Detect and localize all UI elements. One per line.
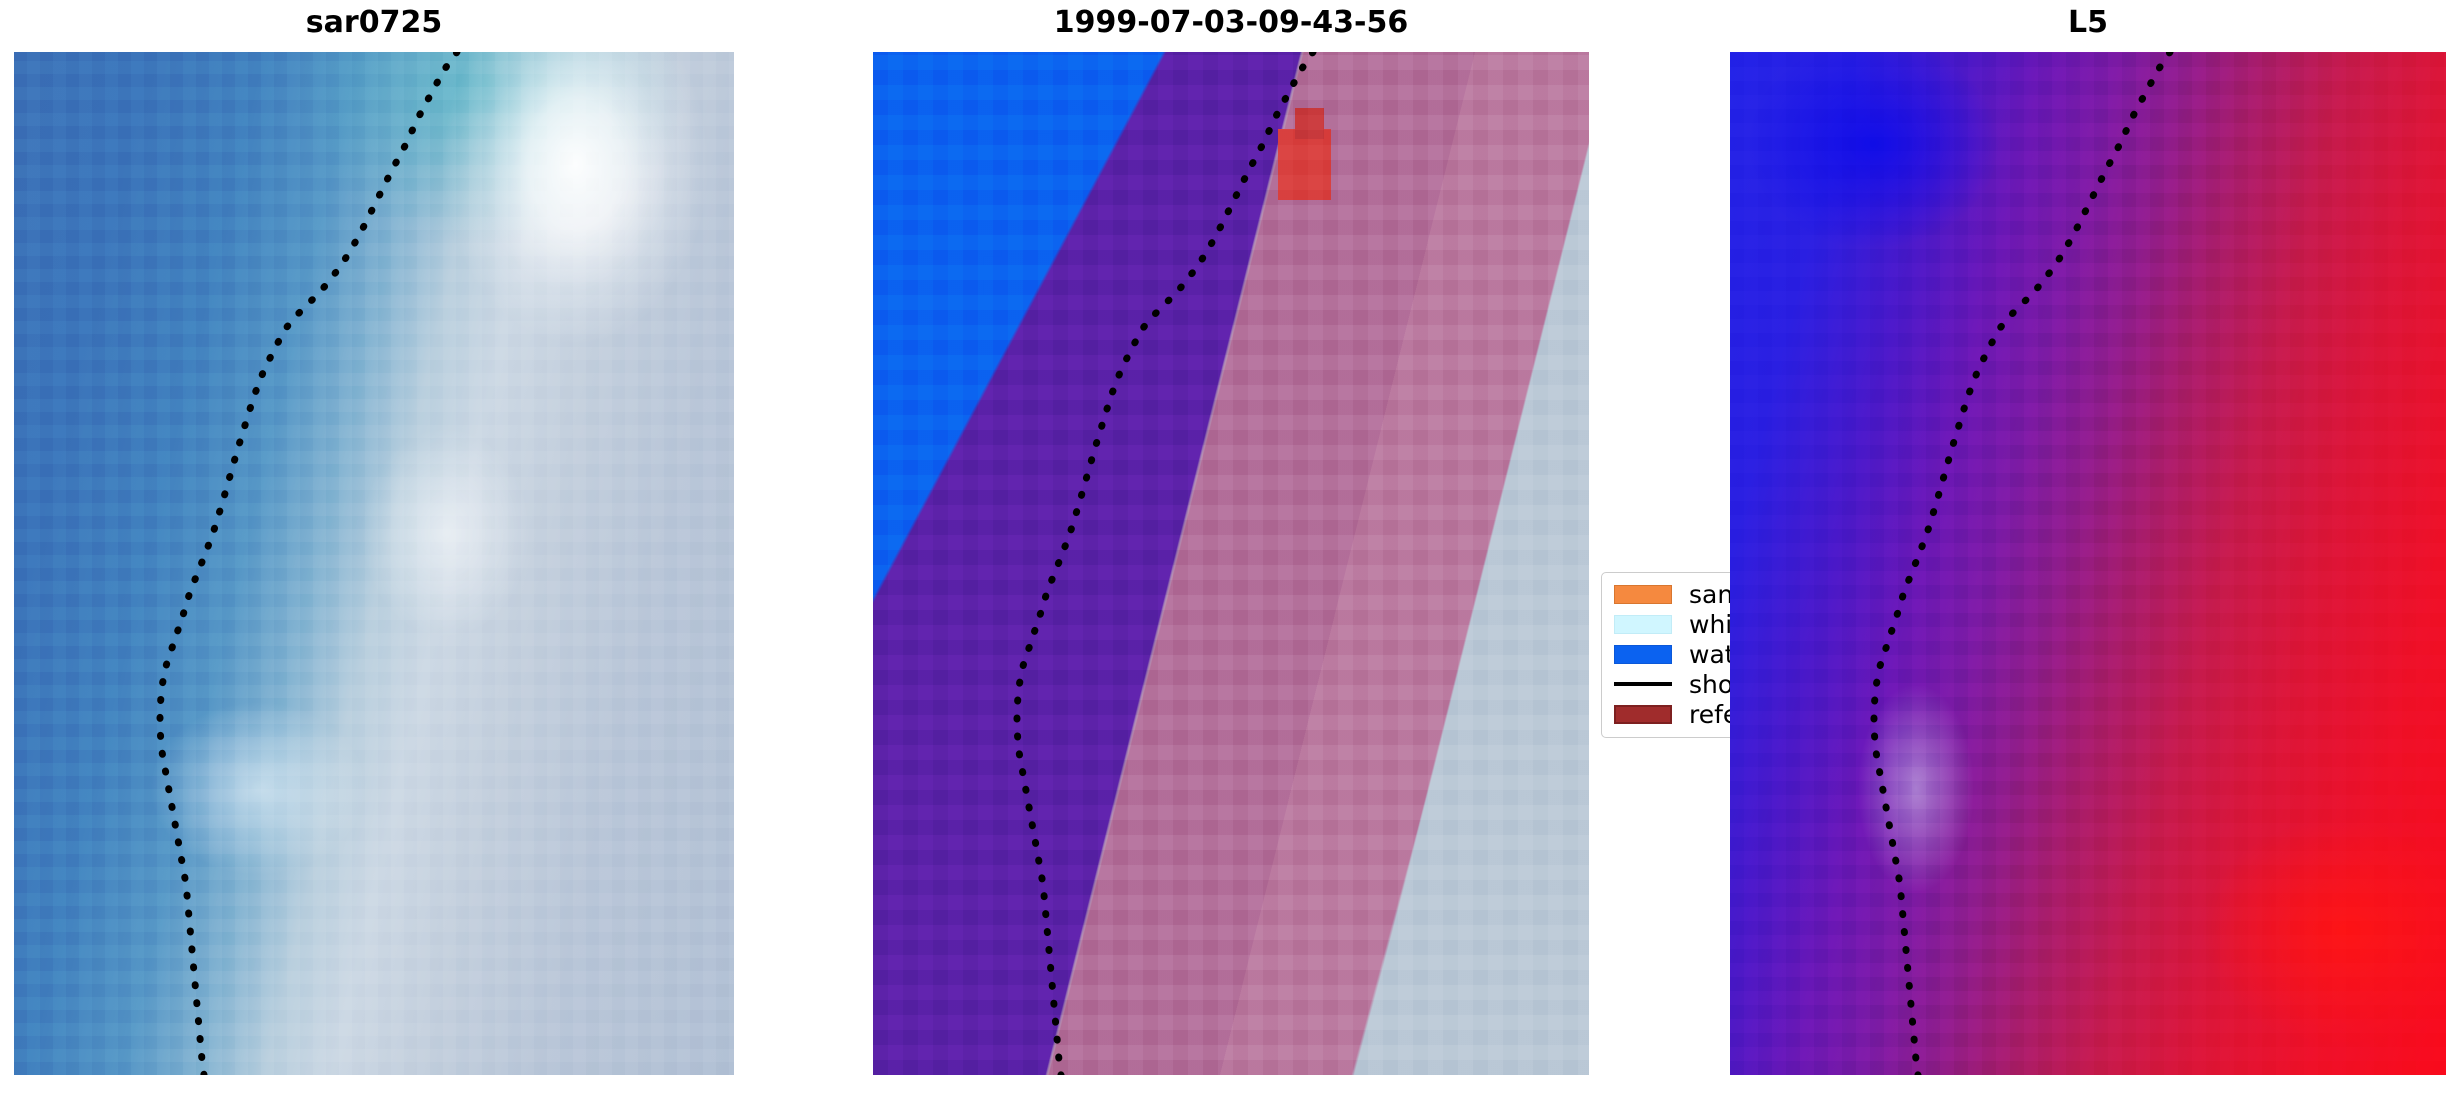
panel-title-sar: sar0725 — [14, 5, 734, 40]
image-panel-l5 — [1730, 52, 2446, 1075]
shoreline-overlay-classified — [873, 52, 1589, 1075]
legend-swatch-reference-shoreline — [1614, 705, 1672, 724]
legend-swatch-whitewater — [1614, 615, 1672, 634]
legend-swatch-water — [1614, 645, 1672, 664]
image-panel-classified — [873, 52, 1589, 1075]
legend-swatch-shoreline — [1614, 682, 1672, 686]
legend-swatch-sand — [1614, 585, 1672, 604]
panel-title-l5: L5 — [1730, 5, 2446, 40]
image-panel-sar — [14, 52, 734, 1075]
shoreline-overlay-sar — [14, 52, 734, 1075]
figure-canvas: sar0725 1999-07-03-09-43-56 L5 sand whit… — [0, 0, 2460, 1093]
panel-title-classified: 1999-07-03-09-43-56 — [873, 5, 1589, 40]
shoreline-overlay-l5 — [1730, 52, 2446, 1075]
